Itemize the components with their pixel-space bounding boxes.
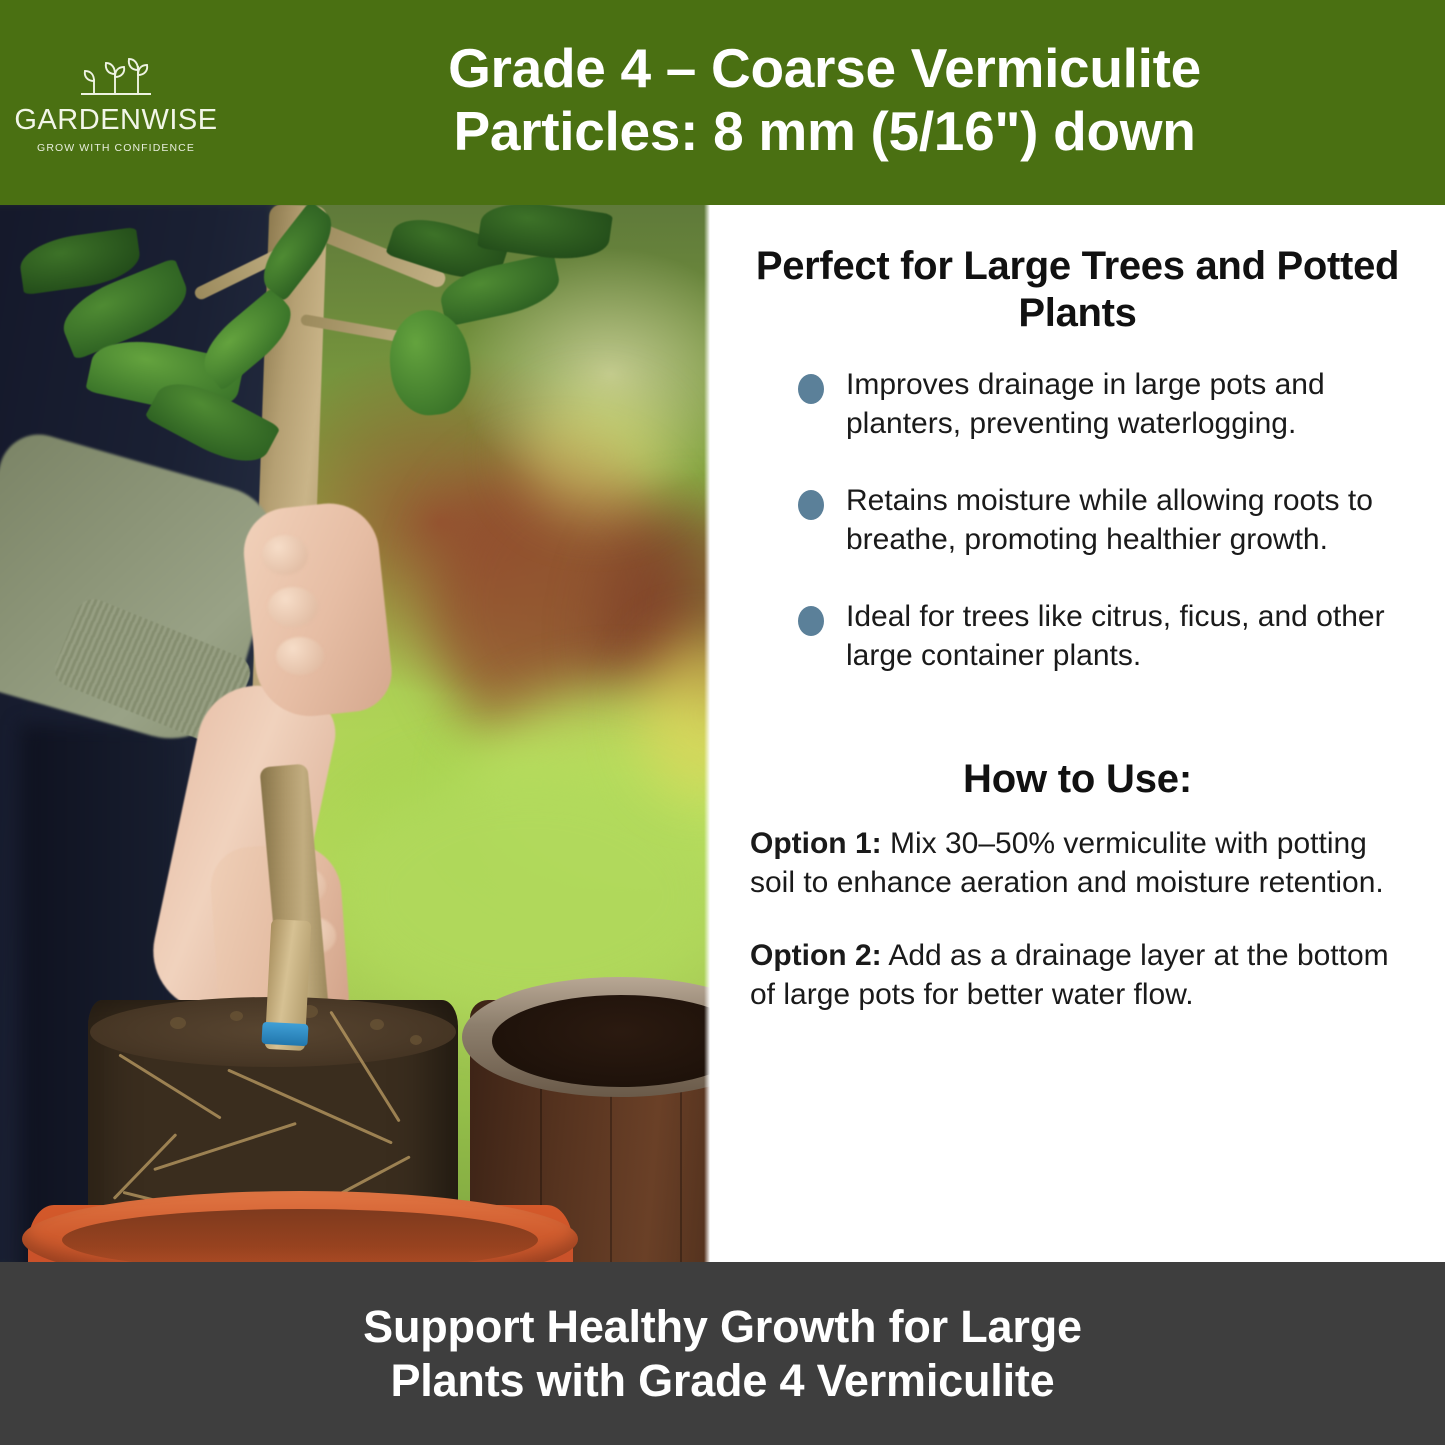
footer-banner: Support Healthy Growth for Large Plants … bbox=[0, 1262, 1445, 1445]
option-1-paragraph: Option 1: Mix 30–50% vermiculite with po… bbox=[736, 824, 1419, 902]
soil-crumb bbox=[370, 1019, 384, 1030]
soil-crumb bbox=[170, 1017, 186, 1029]
knuckle bbox=[276, 637, 324, 675]
list-item: Improves drainage in large pots and plan… bbox=[736, 365, 1419, 443]
brand-name: GARDENWISE bbox=[14, 106, 217, 135]
footer-line-2: Plants with Grade 4 Vermiculite bbox=[390, 1354, 1054, 1408]
tool-blue-tip bbox=[261, 1022, 308, 1046]
photo-bokeh bbox=[520, 395, 670, 515]
knuckle bbox=[262, 535, 308, 575]
list-item-text: Retains moisture while allowing roots to… bbox=[846, 481, 1419, 559]
three-sprouts-icon bbox=[77, 55, 155, 104]
main-heading: Perfect for Large Trees and Potted Plant… bbox=[746, 243, 1409, 337]
bullet-dot-icon bbox=[798, 490, 824, 520]
content-panel: Perfect for Large Trees and Potted Plant… bbox=[710, 205, 1445, 1262]
bullet-dot-icon bbox=[798, 374, 824, 404]
header-banner: GARDENWISE GROW WITH CONFIDENCE Grade 4 … bbox=[0, 0, 1445, 205]
brand-tagline: GROW WITH CONFIDENCE bbox=[37, 142, 195, 154]
option-2-label: Option 2: bbox=[750, 939, 882, 972]
how-to-use-heading: How to Use: bbox=[736, 757, 1419, 802]
infographic-page: GARDENWISE GROW WITH CONFIDENCE Grade 4 … bbox=[0, 0, 1445, 1445]
option-1-label: Option 1: bbox=[750, 827, 882, 860]
pot-rim-inner bbox=[62, 1209, 538, 1262]
header-title-group: Grade 4 – Coarse Vermiculite Particles: … bbox=[232, 37, 1445, 167]
list-item-text: Improves drainage in large pots and plan… bbox=[846, 365, 1419, 443]
knuckle bbox=[268, 587, 318, 627]
list-item: Ideal for trees like citrus, ficus, and … bbox=[736, 597, 1419, 675]
list-item: Retains moisture while allowing roots to… bbox=[736, 481, 1419, 559]
header-title-line-1: Grade 4 – Coarse Vermiculite bbox=[232, 37, 1417, 99]
benefits-list: Improves drainage in large pots and plan… bbox=[736, 365, 1419, 675]
soil-crumb bbox=[230, 1011, 243, 1021]
option-2-paragraph: Option 2: Add as a drainage layer at the… bbox=[736, 936, 1419, 1014]
brand-logo: GARDENWISE GROW WITH CONFIDENCE bbox=[0, 51, 232, 154]
soil-crumb bbox=[410, 1035, 422, 1045]
header-title-line-2: Particles: 8 mm (5/16") down bbox=[232, 100, 1417, 162]
footer-line-1: Support Healthy Growth for Large bbox=[363, 1300, 1082, 1354]
bullet-dot-icon bbox=[798, 606, 824, 636]
list-item-text: Ideal for trees like citrus, ficus, and … bbox=[846, 597, 1419, 675]
product-photo bbox=[0, 205, 710, 1262]
